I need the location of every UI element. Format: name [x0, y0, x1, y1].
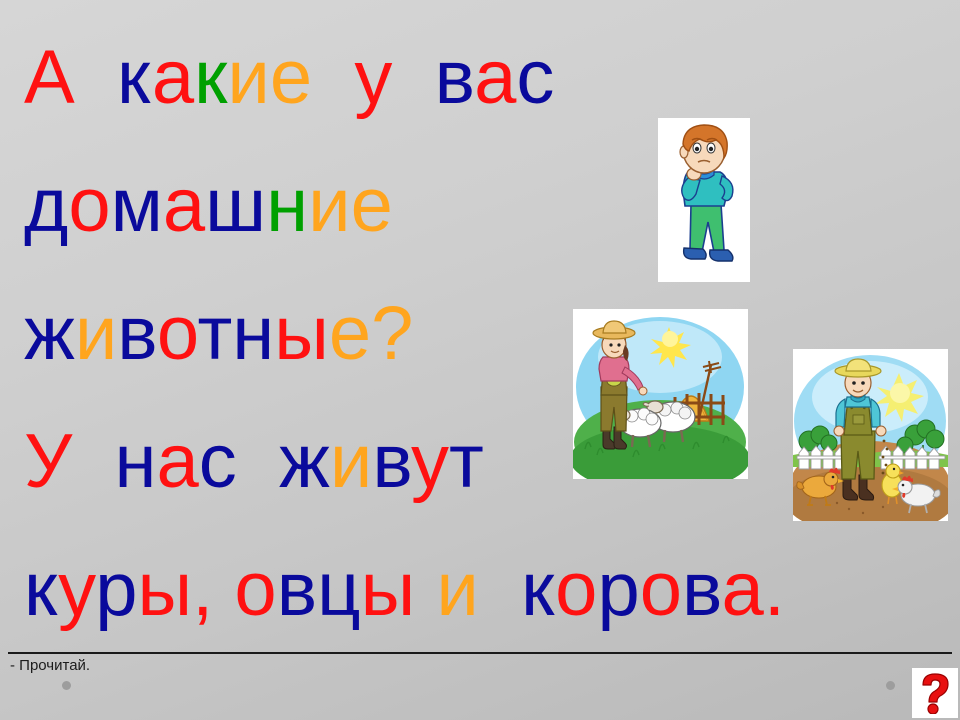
glyph: [479, 547, 500, 632]
glyph: а: [157, 419, 199, 504]
glyph: в: [435, 35, 475, 120]
glyph: ш: [205, 163, 266, 248]
glyph: к: [194, 35, 227, 120]
glyph: .: [764, 547, 785, 632]
glyph: о: [640, 547, 682, 632]
glyph: и: [75, 291, 117, 376]
glyph: [72, 419, 114, 504]
glyph: м: [111, 163, 163, 248]
glyph: е: [351, 163, 393, 248]
picture-shepherdess-with-sheep: [573, 309, 748, 479]
glyph: а: [152, 35, 194, 120]
glyph: [500, 547, 521, 632]
glyph: [312, 35, 354, 120]
question-mark-icon[interactable]: [912, 668, 958, 718]
glyph: ,: [192, 547, 213, 632]
glyph: о: [157, 291, 198, 376]
glyph: а: [163, 163, 205, 248]
glyph: н: [115, 419, 157, 504]
text-line-2: домашние: [24, 142, 936, 270]
glyph: ж: [24, 291, 75, 376]
bullet-dot-left: [62, 681, 71, 690]
glyph: т: [449, 419, 484, 504]
glyph: о: [234, 547, 276, 632]
lesson-text-block: А какие у вас домашние животные? У нас ж…: [24, 14, 936, 654]
glyph: к: [521, 547, 555, 632]
glyph: д: [24, 163, 68, 248]
glyph: а: [722, 547, 764, 632]
glyph: [415, 547, 436, 632]
bullet-dot-right: [886, 681, 895, 690]
glyph: и: [227, 35, 269, 120]
glyph: ж: [279, 419, 330, 504]
glyph: и: [308, 163, 350, 248]
glyph: и: [330, 419, 372, 504]
glyph: к: [24, 547, 58, 632]
footer-divider: [8, 652, 952, 654]
glyph: р: [95, 547, 137, 632]
glyph: ы: [361, 547, 416, 632]
slide-canvas: А какие у вас домашние животные? У нас ж…: [0, 0, 960, 720]
glyph: с: [199, 419, 237, 504]
glyph: ы: [138, 547, 193, 632]
glyph: [75, 35, 117, 120]
footer-note: - Прочитай.: [10, 657, 90, 674]
glyph: а: [474, 35, 516, 120]
glyph: н: [232, 291, 274, 376]
glyph: в: [682, 547, 722, 632]
text-line-5: куры, овцы и корова.: [24, 526, 936, 654]
glyph: ?: [371, 291, 413, 376]
glyph: У: [24, 419, 72, 504]
glyph: [213, 547, 234, 632]
glyph: у: [354, 35, 392, 120]
glyph: р: [597, 547, 639, 632]
glyph: т: [197, 291, 232, 376]
glyph: е: [329, 291, 371, 376]
glyph: е: [270, 35, 312, 120]
glyph: в: [277, 547, 317, 632]
glyph: в: [372, 419, 411, 504]
glyph: с: [516, 35, 554, 120]
glyph: у: [411, 419, 449, 504]
glyph: о: [555, 547, 597, 632]
glyph: А: [24, 35, 75, 120]
glyph: и: [436, 547, 478, 632]
text-line-1: А какие у вас: [24, 14, 936, 142]
glyph: ы: [274, 291, 329, 376]
glyph: [392, 35, 434, 120]
glyph: в: [117, 291, 157, 376]
glyph: ц: [317, 547, 361, 632]
glyph: н: [266, 163, 308, 248]
picture-farmer-feeding-chickens: [793, 349, 948, 521]
picture-thinking-boy: [658, 118, 750, 282]
glyph: у: [58, 547, 95, 632]
glyph: [237, 419, 279, 504]
glyph: о: [68, 163, 110, 248]
glyph: к: [117, 35, 152, 120]
